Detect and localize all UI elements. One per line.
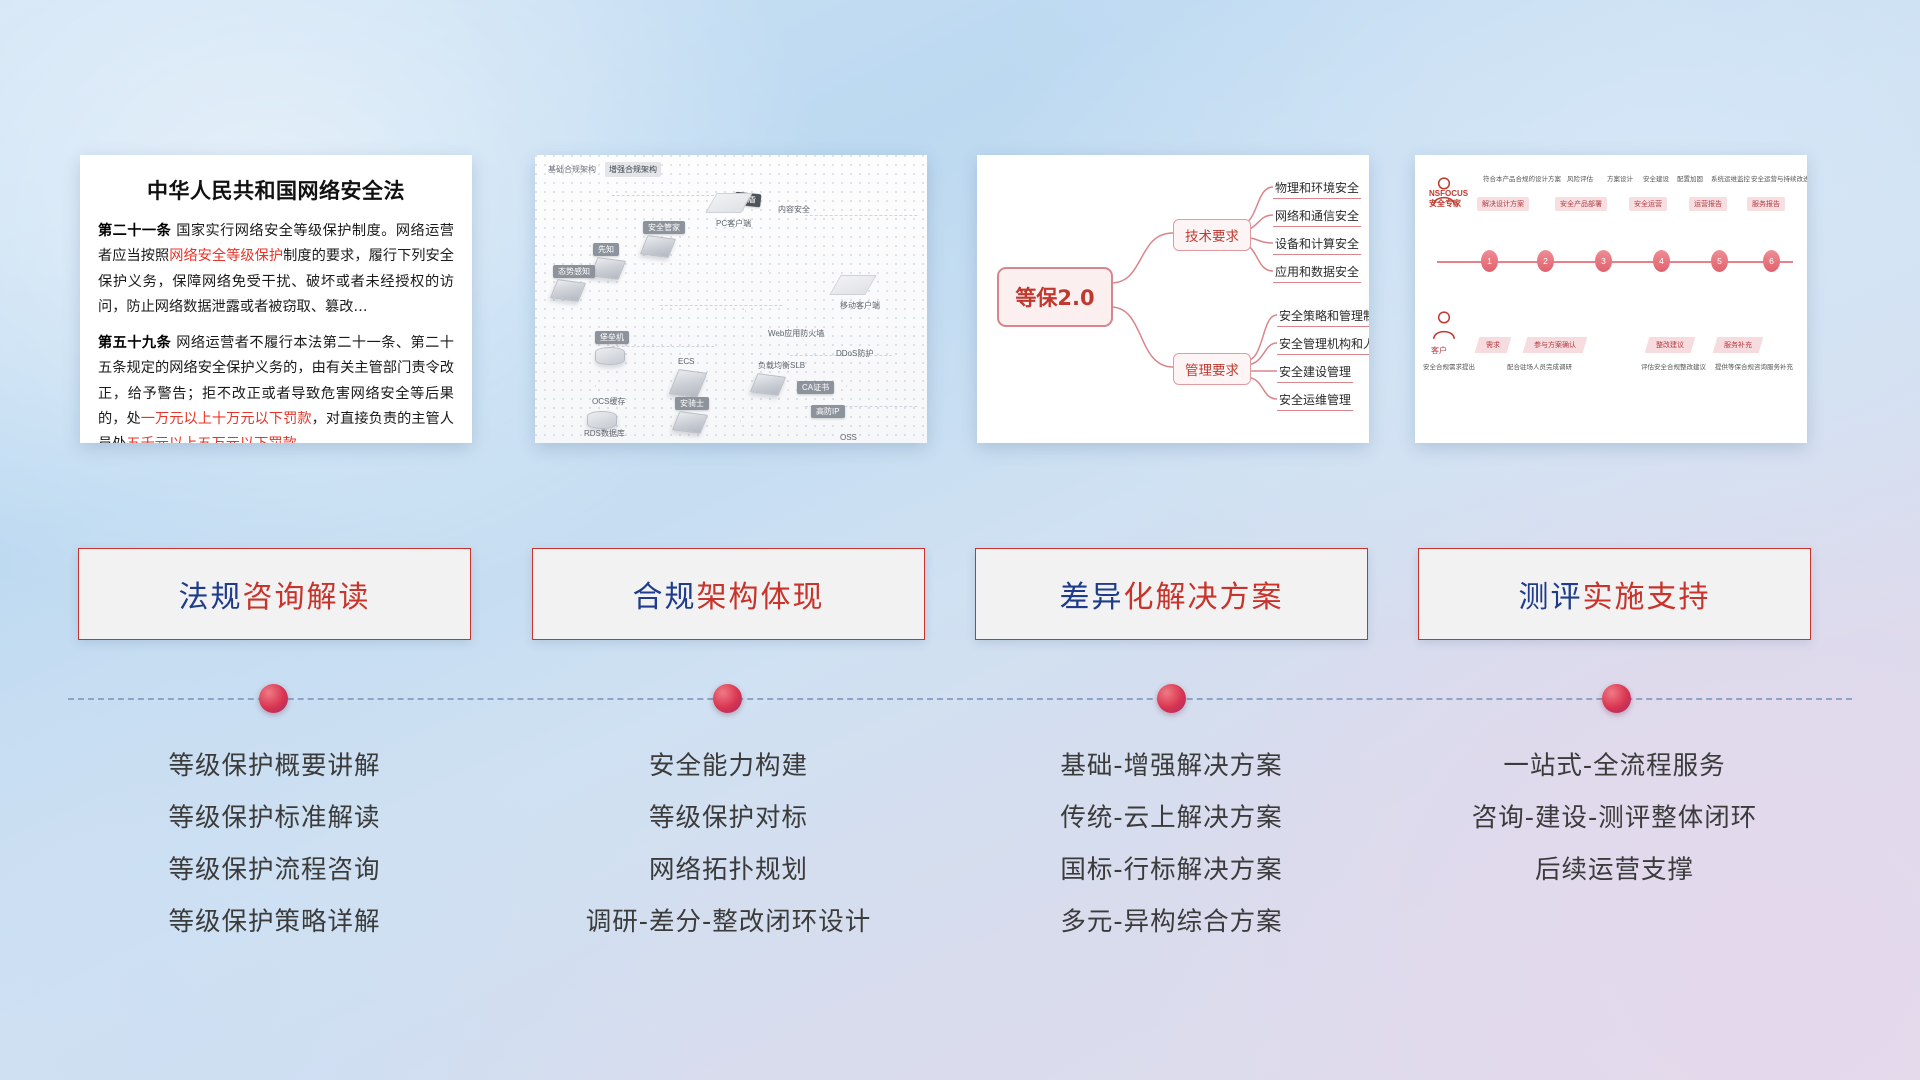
- card-architecture-diagram: 基础合规架构 增强合规架构 云盾 安全管家 先知 态势感知: [535, 155, 927, 443]
- list-item: 等级保护流程咨询: [78, 844, 471, 896]
- list-item: 咨询-建设-测评整体闭环: [1418, 792, 1811, 844]
- list-item: 一站式-全流程服务: [1418, 740, 1811, 792]
- pillar-2-blue: 合规: [633, 580, 697, 615]
- mindmap-leaf-policy-system: 安全策略和管理制度: [1277, 307, 1369, 327]
- nsfocus-brand-sub: 安全专家: [1429, 199, 1461, 208]
- timeline-dashed-line: [68, 698, 1852, 700]
- timeline-tag-2: 方案设计: [1607, 173, 1633, 183]
- node-label-ecs: ECS: [673, 355, 699, 368]
- node-situational-awareness: 态势感知: [553, 261, 595, 300]
- timeline-step-4: 4: [1653, 250, 1670, 272]
- mindmap-leaf-device-compute: 设备和计算安全: [1273, 235, 1361, 255]
- mindmap-branch-technical: 技术要求: [1173, 219, 1251, 251]
- pillar-title-differentiated-solution[interactable]: 差异化解决方案: [975, 548, 1368, 640]
- timeline-node-1[interactable]: [259, 684, 288, 713]
- output-sub-tag-1: 评估安全合规整改建议: [1641, 361, 1706, 371]
- customer-action-requirement-text: 需求: [1486, 340, 1500, 350]
- output-rectification-advice: 整改建议: [1645, 337, 1696, 353]
- law-title: 中华人民共和国网络安全法: [98, 175, 454, 205]
- card-mindmap: 等保2.0 技术要求 物理和环境安全 网络和通信安全 设备和计算安全 应用和数据…: [977, 155, 1369, 443]
- pillar-title-text-4: 测评实施支持: [1519, 572, 1711, 616]
- architecture-canvas: 基础合规架构 增强合规架构 云盾 安全管家 先知 态势感知: [535, 155, 927, 443]
- node-anti-ddos-ip: 高防IP: [811, 401, 845, 419]
- timeline-node-3[interactable]: [1157, 684, 1186, 713]
- node-box-icon: [750, 373, 786, 396]
- list-item: 调研-差分-整改闭环设计: [532, 896, 925, 948]
- timeline-tag-3: 安全建设: [1643, 173, 1669, 183]
- article-21-highlight: 网络安全等级保护: [169, 248, 283, 264]
- node-label-xianzhi: 先知: [593, 243, 619, 256]
- node-label-slb: 负载均衡SLB: [753, 359, 810, 372]
- architecture-tabs: 基础合规架构 增强合规架构: [544, 162, 661, 177]
- pillar-4-blue: 测评: [1519, 580, 1583, 615]
- customer-action-confirm-text: 参与方案确认: [1534, 340, 1576, 350]
- output-service-supplement: 服务补充: [1713, 337, 1764, 353]
- timeline-tag-4: 配置加固: [1677, 173, 1703, 183]
- node-bastion-host: 堡垒机: [595, 327, 629, 365]
- node-label-neironganquan: 内容安全: [773, 203, 815, 216]
- law-article-21: 第二十一条 国家实行网络安全等级保护制度。网络运营者应当按照网络安全等级保护制度…: [98, 219, 454, 320]
- pillar-items-legal-consulting: 等级保护概要讲解 等级保护标准解读 等级保护流程咨询 等级保护策略详解: [78, 740, 471, 948]
- card-nsfocus-timeline: NSFOCUS 安全专家 符合本产品合规的设计方案 风险评估 方案设计 安全建设…: [1415, 155, 1807, 443]
- list-item: 安全能力构建: [532, 740, 925, 792]
- mindmap-leaf-app-data: 应用和数据安全: [1273, 263, 1361, 283]
- node-box-icon: [550, 279, 586, 302]
- pillar-title-compliance-architecture[interactable]: 合规架构体现: [532, 548, 925, 640]
- node-label-taishiganzhi: 态势感知: [553, 265, 595, 278]
- timeline-chip-1: 安全产品部署: [1555, 197, 1607, 211]
- list-item: 基础-增强解决方案: [975, 740, 1368, 792]
- node-anqishi: 安骑士: [675, 393, 709, 432]
- node-label-ocs: OCS缓存: [587, 395, 630, 408]
- customer-action-requirement: 需求: [1475, 337, 1512, 353]
- node-box-icon: [590, 257, 626, 280]
- node-ddos-protection: DDoS防护: [831, 343, 878, 361]
- customer-label: 客户: [1431, 345, 1447, 356]
- mindmap-leaf-physical-env: 物理和环境安全: [1273, 179, 1361, 199]
- mindmap-canvas: 等保2.0 技术要求 物理和环境安全 网络和通信安全 设备和计算安全 应用和数据…: [977, 155, 1369, 443]
- poster-canvas: 中华人民共和国网络安全法 第二十一条 国家实行网络安全等级保护制度。网络运营者应…: [0, 0, 1920, 1080]
- node-label-ddos: DDoS防护: [831, 347, 878, 360]
- customer-person-icon: [1431, 311, 1457, 341]
- node-ecs: ECS: [673, 351, 703, 396]
- node-label-anquanguanjia: 安全管家: [643, 221, 685, 234]
- node-box-icon: [640, 235, 676, 258]
- timeline-chip-4: 服务报告: [1747, 197, 1785, 211]
- node-mobile-client: 移动客户端: [835, 275, 885, 313]
- pillar-4-red: 实施支持: [1583, 580, 1711, 615]
- timeline-chip-3: 运营报告: [1689, 197, 1727, 211]
- node-label-baoleiji: 堡垒机: [595, 331, 629, 344]
- list-item: 等级保护对标: [532, 792, 925, 844]
- timeline-tag-5: 系统运维监控: [1711, 173, 1750, 183]
- node-label-rds: RDS数据库: [579, 427, 630, 440]
- list-item: 国标-行标解决方案: [975, 844, 1368, 896]
- node-label-mobile: 移动客户端: [835, 299, 885, 312]
- node-label-oss: OSS: [835, 431, 862, 443]
- node-content-security: 内容安全: [773, 199, 815, 217]
- timeline-node-4[interactable]: [1602, 684, 1631, 713]
- tab-enhanced-compliance[interactable]: 增强合规架构: [605, 162, 661, 177]
- customer-sub-tag-1: 安全合规需求提出: [1423, 361, 1475, 371]
- pillar-items-differentiated-solution: 基础-增强解决方案 传统-云上解决方案 国标-行标解决方案 多元-异构综合方案: [975, 740, 1368, 948]
- list-item: 多元-异构综合方案: [975, 896, 1368, 948]
- article-21-label: 第二十一条: [98, 223, 171, 239]
- list-item: 等级保护概要讲解: [78, 740, 471, 792]
- node-ca-certificate: CA证书: [797, 377, 834, 395]
- pillar-items-compliance-architecture: 安全能力构建 等级保护对标 网络拓扑规划 调研-差分-整改闭环设计: [532, 740, 925, 948]
- pillar-title-text-2: 合规架构体现: [633, 572, 825, 616]
- node-pc-client: PC客户端: [711, 193, 756, 231]
- list-item: 传统-云上解决方案: [975, 792, 1368, 844]
- law-document: 中华人民共和国网络安全法 第二十一条 国家实行网络安全等级保护制度。网络运营者应…: [80, 155, 472, 443]
- timeline-step-6: 6: [1763, 250, 1780, 272]
- pillar-title-text-3: 差异化解决方案: [1060, 572, 1284, 616]
- node-box-icon: [672, 411, 708, 434]
- pillar-2-red: 架构体现: [697, 580, 825, 615]
- pillar-3-blue: 差异: [1060, 580, 1124, 615]
- pillar-title-legal-consulting[interactable]: 法规咨询解读: [78, 548, 471, 640]
- node-label-gaofangip: 高防IP: [811, 405, 845, 418]
- article-59-highlight-1: 一万元以上十万元以下罚款: [141, 411, 312, 427]
- pillar-1-red: 咨询解读: [243, 580, 371, 615]
- article-59-label: 第五十九条: [98, 335, 171, 351]
- timeline-tag-1: 风险评估: [1567, 173, 1593, 183]
- article-59-highlight-2: 五千元以上五万元以下罚款。: [126, 436, 310, 443]
- timeline-step-5: 5: [1711, 250, 1728, 272]
- timeline-step-1: 1: [1481, 250, 1498, 272]
- pillar-items-assessment-support: 一站式-全流程服务 咨询-建设-测评整体闭环 后续运营支撑: [1418, 740, 1811, 896]
- mindmap-leaf-ops-mgmt: 安全运维管理: [1277, 391, 1353, 411]
- mindmap-root: 等保2.0: [997, 267, 1113, 327]
- mindmap-leaf-network-comm: 网络和通信安全: [1273, 207, 1361, 227]
- card-law-text: 中华人民共和国网络安全法 第二十一条 国家实行网络安全等级保护制度。网络运营者应…: [80, 155, 472, 443]
- list-item: 后续运营支撑: [1418, 844, 1811, 896]
- mindmap-leaf-construction-mgmt: 安全建设管理: [1277, 363, 1353, 383]
- node-xianzhi: 先知: [593, 239, 623, 278]
- output-rectification-advice-text: 整改建议: [1656, 340, 1684, 350]
- node-label-ca: CA证书: [797, 381, 834, 394]
- customer-sub-tag-2: 配合驻场人员完成调研: [1507, 361, 1572, 371]
- output-service-supplement-text: 服务补充: [1724, 340, 1752, 350]
- pillar-3-red: 化解决方案: [1124, 580, 1284, 615]
- pillar-title-assessment-support[interactable]: 测评实施支持: [1418, 548, 1811, 640]
- node-waf: Web应用防火墙: [763, 323, 829, 341]
- law-article-59: 第五十九条 网络运营者不履行本法第二十一条、第二十五条规定的网络安全保护义务的，…: [98, 331, 454, 443]
- customer-action-confirm: 参与方案确认: [1523, 337, 1588, 353]
- nsfocus-brand: NSFOCUS 安全专家: [1429, 189, 1468, 210]
- node-plate-icon: [705, 193, 753, 213]
- node-label-anqishi: 安骑士: [675, 397, 709, 410]
- mindmap-branch-management: 管理要求: [1173, 353, 1251, 385]
- node-label-waf: Web应用防火墙: [763, 327, 829, 340]
- node-cylinder-icon: [595, 347, 625, 365]
- nsfocus-brand-name: NSFOCUS: [1429, 189, 1468, 198]
- timeline-chip-2: 安全运营: [1629, 197, 1667, 211]
- node-security-butler: 安全管家: [643, 217, 685, 256]
- output-sub-tag-2: 提供等保合规咨询服务补充: [1715, 361, 1793, 371]
- list-item: 等级保护策略详解: [78, 896, 471, 948]
- timeline-step-3: 3: [1595, 250, 1612, 272]
- tab-basic-compliance[interactable]: 基础合规架构: [544, 162, 600, 177]
- pillar-title-text-1: 法规咨询解读: [179, 572, 371, 616]
- nsfocus-canvas: NSFOCUS 安全专家 符合本产品合规的设计方案 风险评估 方案设计 安全建设…: [1415, 155, 1807, 443]
- timeline-step-2: 2: [1537, 250, 1554, 272]
- timeline-tag-0: 符合本产品合规的设计方案: [1483, 173, 1561, 183]
- node-plate-icon: [829, 275, 877, 295]
- mindmap-leaf-org-personnel: 安全管理机构和人员: [1277, 335, 1369, 355]
- list-item: 网络拓扑规划: [532, 844, 925, 896]
- timeline-node-2[interactable]: [713, 684, 742, 713]
- node-label-pc: PC客户端: [711, 217, 756, 230]
- timeline-tag-6: 安全运营与持续改进整改支持: [1751, 173, 1807, 183]
- list-item: 等级保护标准解读: [78, 792, 471, 844]
- timeline-chip-0: 解决设计方案: [1477, 197, 1529, 211]
- node-rds-database: RDS数据库: [579, 423, 630, 443]
- node-oss: OSS: [835, 427, 865, 443]
- pillar-1-blue: 法规: [179, 580, 243, 615]
